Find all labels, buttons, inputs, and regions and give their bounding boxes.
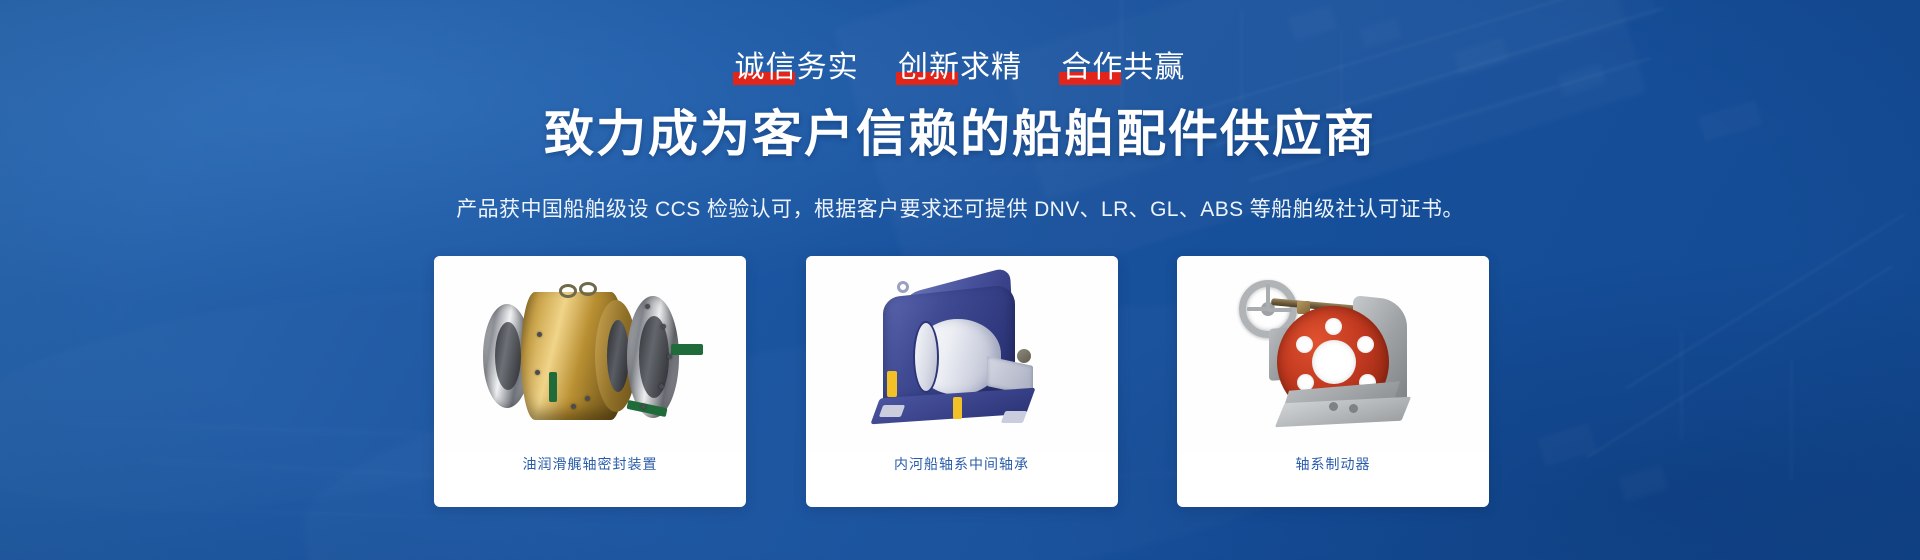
product-card-1-label: 油润滑艉轴密封装置 [523,454,658,474]
product-card-1[interactable]: 油润滑艉轴密封装置 [434,256,746,507]
product-card-2[interactable]: 内河船轴系中间轴承 [806,256,1118,507]
banner-content: 诚信务实 创新求精 合作共赢 致力成为客户信赖的船舶配件供应商 产品获中国船舶级… [0,0,1920,560]
subtitle: 产品获中国船舶级设 CCS 检验认可，根据客户要求还可提供 DNV、LR、GL、… [0,196,1920,224]
product-card-list: 油润滑艉轴密封装置 [434,256,1489,507]
product-card-3-label: 轴系制动器 [1296,454,1371,474]
tagline-group-3: 合作共赢 [1057,50,1189,86]
tagline: 诚信务实 创新求精 合作共赢 [0,50,1920,86]
product-card-3[interactable]: 轴系制动器 [1177,256,1489,507]
inland-vessel-intermediate-shaft-bearing-photo [806,256,1118,454]
tagline-text-3: 合作共赢 [1061,51,1185,84]
headline: 致力成为客户信赖的船舶配件供应商 [0,104,1920,164]
hero-banner: 诚信务实 创新求精 合作共赢 致力成为客户信赖的船舶配件供应商 产品获中国船舶级… [0,0,1920,560]
tagline-text-1: 诚信务实 [735,51,859,84]
product-card-2-label: 内河船轴系中间轴承 [894,454,1029,474]
tagline-group-2: 创新求精 [894,50,1026,86]
tagline-text-2: 创新求精 [898,51,1022,84]
tagline-group-1: 诚信务实 [731,50,863,86]
oil-lubricated-stern-shaft-seal-photo [434,256,746,454]
shaft-brake-photo [1177,256,1489,454]
